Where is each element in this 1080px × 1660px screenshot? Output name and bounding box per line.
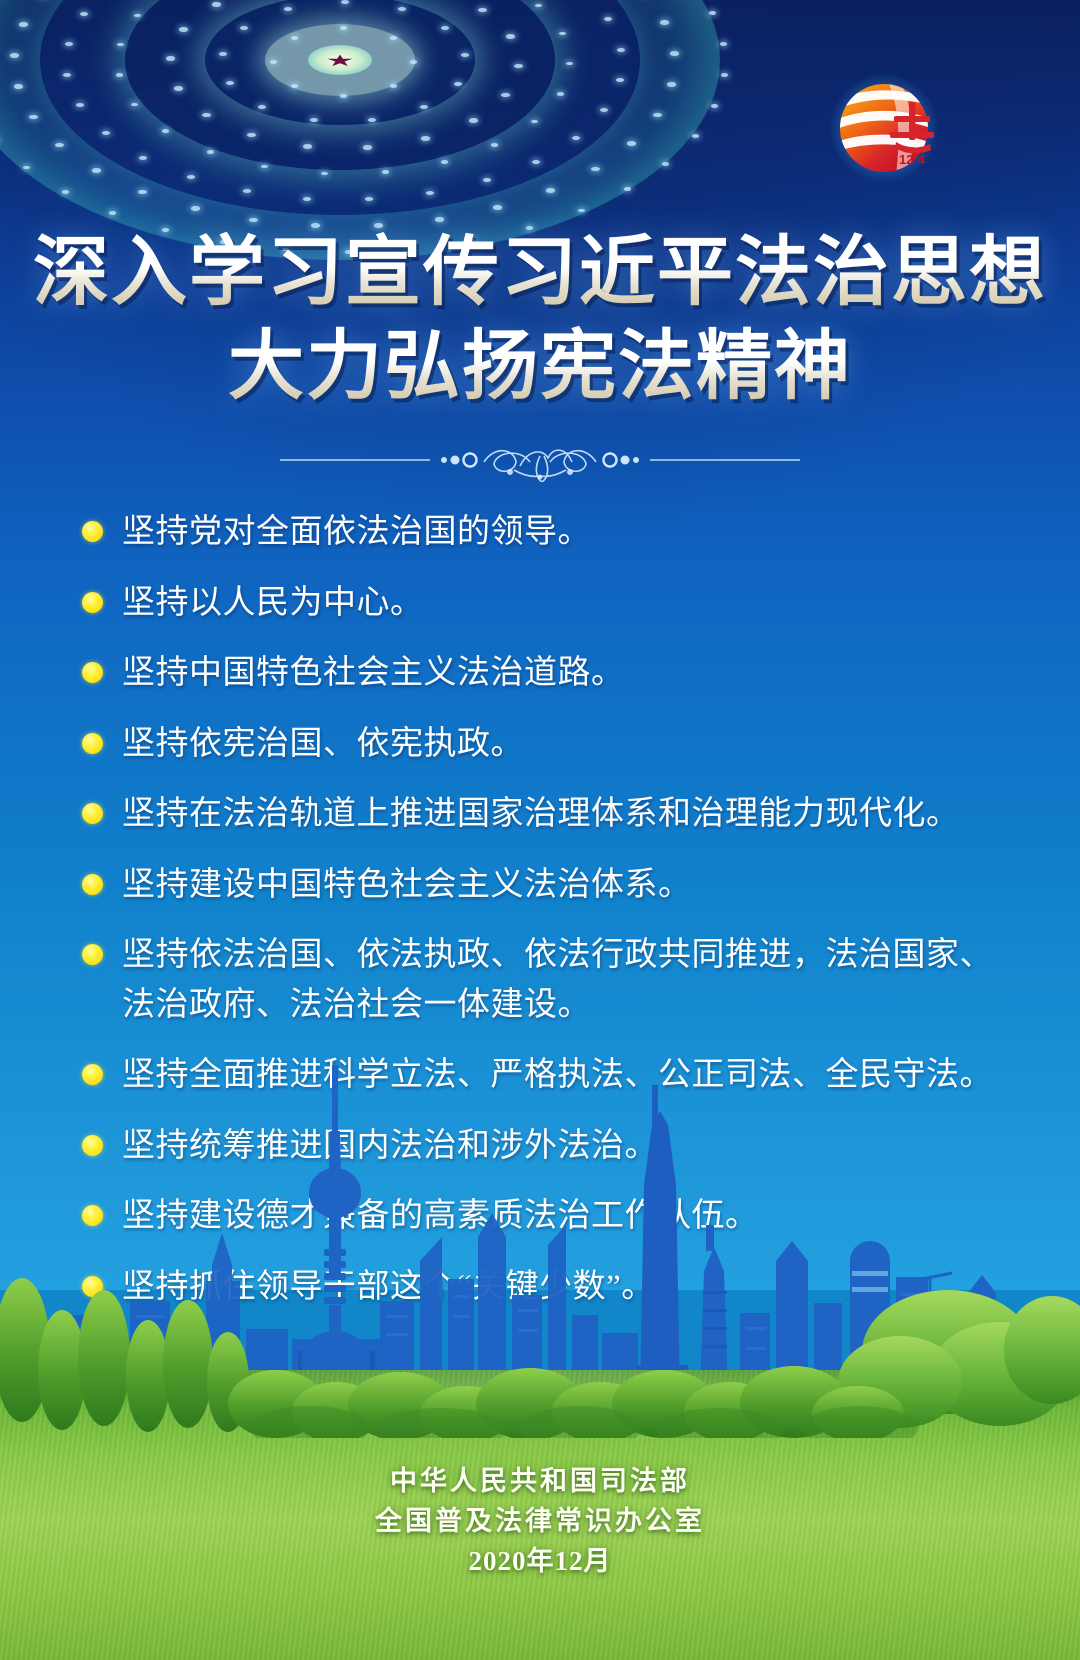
poster-root: 12·4 深入学习宣传习近平法治思想 大力弘扬宪法精神: [0, 0, 1080, 1660]
list-item: 坚持以人民为中心。: [70, 579, 1010, 629]
bullet-dot-icon: [82, 874, 103, 895]
list-item-label: 坚持在法治轨道上推进国家治理体系和治理能力现代化。: [122, 790, 1010, 840]
bullet-dot-icon: [82, 662, 103, 683]
bullet-dot-icon: [82, 521, 103, 542]
poster-title: 深入学习宣传习近平法治思想 大力弘扬宪法精神: [0, 226, 1080, 414]
list-item: 坚持中国特色社会主义法治道路。: [70, 649, 1010, 699]
list-item-label-line2: 法治政府、法治社会一体建设。: [122, 981, 1010, 1031]
bullet-dot-icon: [82, 803, 103, 824]
list-item-label: 坚持依法治国、依法执政、依法行政共同推进，法治国家、 法治政府、法治社会一体建设…: [122, 931, 1010, 1030]
treeline: [0, 1278, 1080, 1438]
national-constitution-day-logo: 12·4: [828, 72, 940, 184]
list-item-label: 坚持党对全面依法治国的领导。: [122, 508, 1010, 558]
bullet-dot-icon: [82, 733, 103, 754]
list-item: 坚持建设中国特色社会主义法治体系。: [70, 861, 1010, 911]
list-item: 坚持依宪治国、依宪执政。: [70, 720, 1010, 770]
list-item-label-line1: 坚持依法治国、依法执政、依法行政共同推进，法治国家、: [122, 937, 993, 973]
list-item-label: 坚持中国特色社会主义法治道路。: [122, 649, 1010, 699]
title-line-1: 深入学习宣传习近平法治思想: [0, 226, 1080, 320]
footer-date: 2020年12月: [0, 1542, 1080, 1582]
list-item: 坚持在法治轨道上推进国家治理体系和治理能力现代化。: [70, 790, 1010, 840]
bullet-dot-icon: [82, 944, 103, 965]
list-item: 坚持依法治国、依法执政、依法行政共同推进，法治国家、 法治政府、法治社会一体建设…: [70, 931, 1010, 1030]
list-item-label: 坚持建设中国特色社会主义法治体系。: [122, 861, 1010, 911]
list-item: 坚持党对全面依法治国的领导。: [70, 508, 1010, 558]
list-item-label: 坚持依宪治国、依宪执政。: [122, 720, 1010, 770]
footer-org-1: 中华人民共和国司法部: [0, 1462, 1080, 1502]
footer-org-2: 全国普及法律常识办公室: [0, 1502, 1080, 1542]
list-item-label: 坚持以人民为中心。: [122, 579, 1010, 629]
title-line-2: 大力弘扬宪法精神: [0, 320, 1080, 414]
bullet-dot-icon: [82, 592, 103, 613]
flourish-divider: [0, 432, 1080, 482]
footer-credits: 中华人民共和国司法部 全国普及法律常识办公室 2020年12月: [0, 1462, 1080, 1582]
logo-date-label: 12·4: [899, 152, 926, 167]
